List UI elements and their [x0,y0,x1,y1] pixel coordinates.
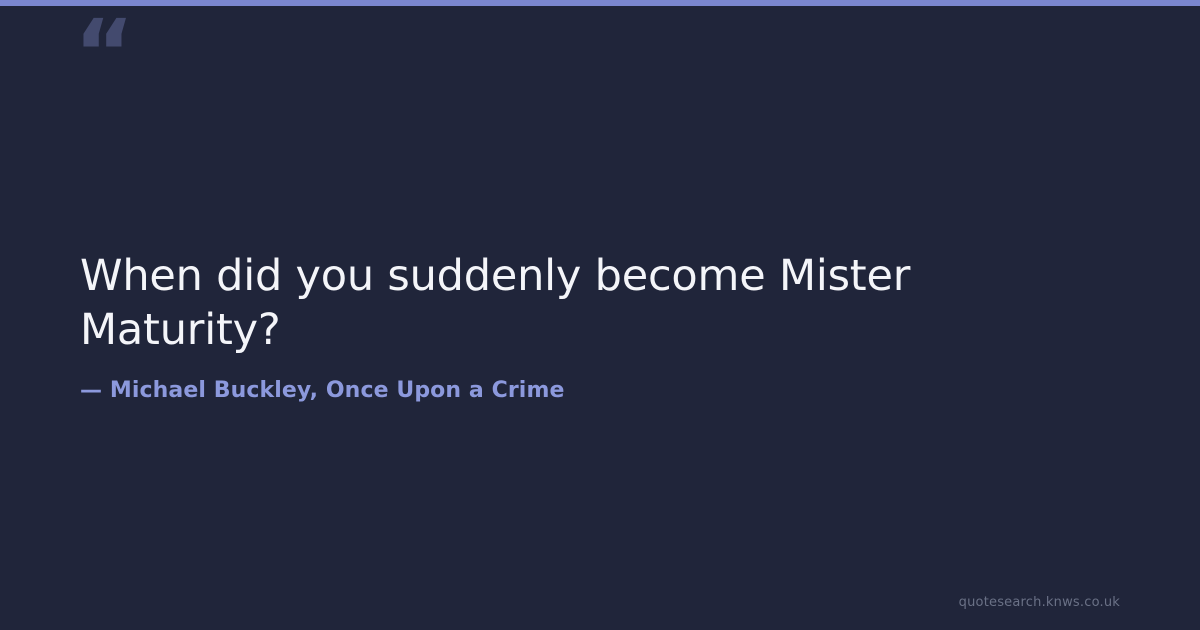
quote-card: “ When did you suddenly become Mister Ma… [0,0,1200,630]
quotation-mark-icon: “ [74,8,132,100]
quote-attribution: — Michael Buckley, Once Upon a Crime [80,358,1120,406]
top-accent-bar [0,0,1200,6]
site-watermark: quotesearch.knws.co.uk [959,595,1120,610]
quote-text: When did you suddenly become Mister Matu… [80,250,1120,358]
quote-content-block: When did you suddenly become Mister Matu… [80,250,1120,405]
